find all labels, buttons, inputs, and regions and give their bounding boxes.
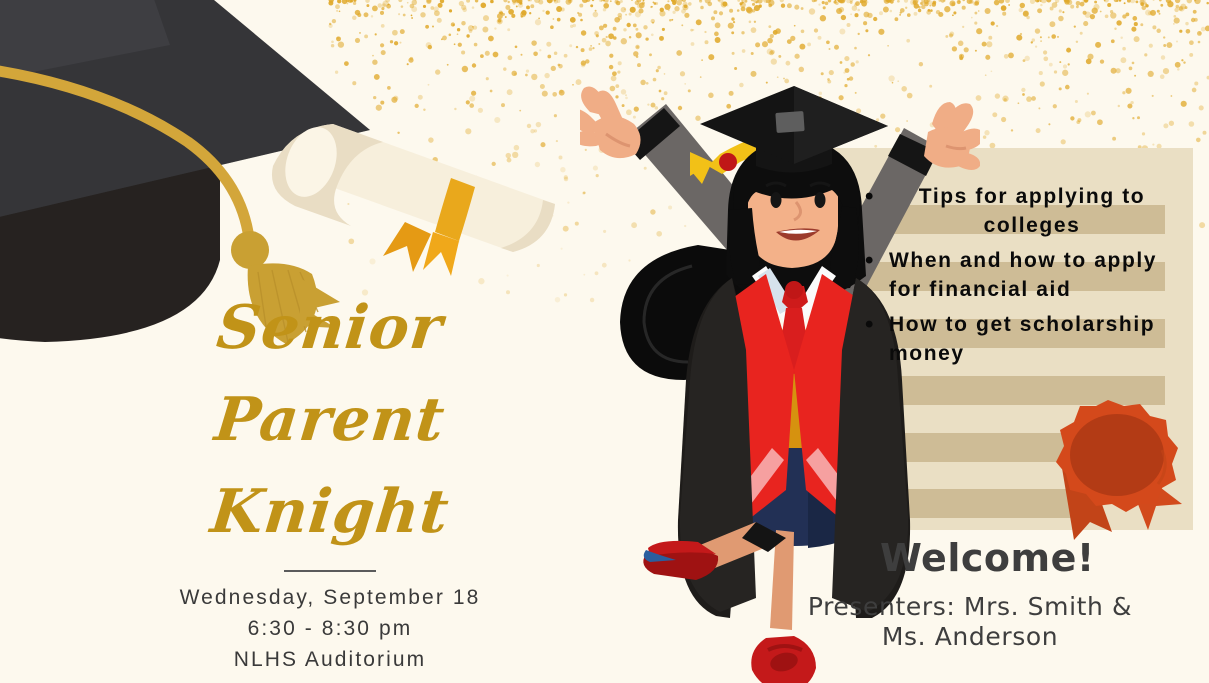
list-item: • How to get scholarship money [865, 310, 1175, 368]
event-time: 6:30 - 8:30 pm [60, 613, 600, 644]
list-item: • Tips for applying to colleges [865, 182, 1175, 240]
list-item-label: When and how to apply for financial aid [865, 246, 1175, 304]
award-ribbon-seal-icon [1020, 390, 1195, 555]
bullet-icon: • [865, 246, 881, 275]
headline-line-2: Parent [55, 374, 605, 466]
bullet-icon: • [865, 182, 881, 211]
bullet-icon: • [865, 310, 881, 339]
flyer-canvas: Senior Parent Knight Wednesday, Septembe… [0, 0, 1209, 683]
headline-block: Senior Parent Knight Wednesday, Septembe… [60, 282, 600, 675]
headline-line-3: Knight [55, 466, 605, 558]
event-date: Wednesday, September 18 [60, 582, 600, 613]
welcome-heading: Welcome! [880, 536, 1095, 580]
event-location: NLHS Auditorium [60, 644, 600, 675]
headline-line-1: Senior [55, 282, 605, 374]
list-item-label: How to get scholarship money [865, 310, 1175, 368]
list-item-label: Tips for applying to colleges [865, 182, 1175, 240]
list-item: • When and how to apply for financial ai… [865, 246, 1175, 304]
topics-list: • Tips for applying to colleges • When a… [865, 182, 1175, 374]
headline-divider [284, 570, 376, 572]
presenters-text: Presenters: Mrs. Smith & Ms. Anderson [800, 592, 1140, 652]
